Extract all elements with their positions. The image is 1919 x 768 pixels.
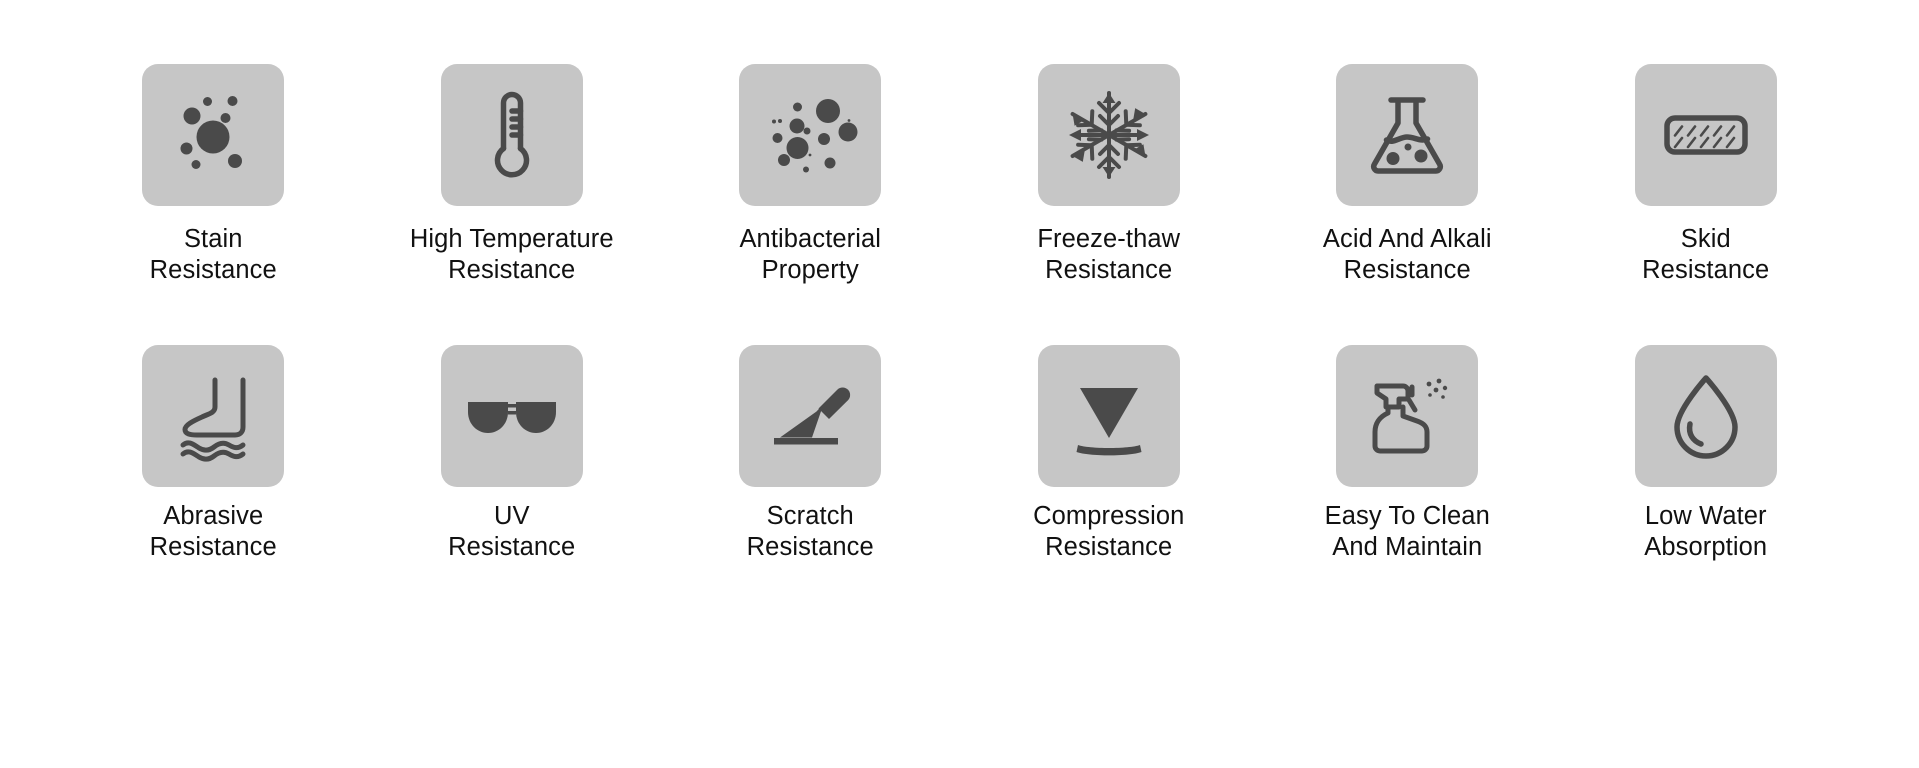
knife-icon xyxy=(760,366,860,466)
downward-triangle-press-icon xyxy=(1059,366,1159,466)
hatched-tile-icon xyxy=(1656,85,1756,185)
icon-tile-acid-and-alkali-resistance[interactable] xyxy=(1336,64,1478,206)
icon-tile-abrasive-resistance[interactable] xyxy=(142,345,284,487)
feature-label-abrasive-resistance: Abrasive Resistance xyxy=(150,501,277,562)
icon-tile-antibacterial-property[interactable] xyxy=(739,64,881,206)
foot-on-waves-icon xyxy=(163,366,263,466)
icon-tile-stain-resistance[interactable] xyxy=(142,64,284,206)
icon-tile-freeze-thaw-resistance[interactable] xyxy=(1038,64,1180,206)
snowflake-icon xyxy=(1059,85,1159,185)
icon-tile-skid-resistance[interactable] xyxy=(1635,64,1777,206)
feature-cell-easy-to-clean-and-maintain[interactable]: Easy To Clean And Maintain xyxy=(1258,345,1557,626)
icon-tile-scratch-resistance[interactable] xyxy=(739,345,881,487)
feature-label-scratch-resistance: Scratch Resistance xyxy=(747,501,874,562)
feature-cell-high-temperature-resistance[interactable]: High Temperature Resistance xyxy=(363,64,662,345)
feature-label-easy-to-clean-and-maintain: Easy To Clean And Maintain xyxy=(1325,501,1490,562)
feature-cell-abrasive-resistance[interactable]: Abrasive Resistance xyxy=(64,345,363,626)
feature-cell-stain-resistance[interactable]: Stain Resistance xyxy=(64,64,363,345)
feature-label-stain-resistance: Stain Resistance xyxy=(150,224,277,285)
feature-label-low-water-absorption: Low Water Absorption xyxy=(1644,501,1767,562)
spray-bottle-icon xyxy=(1357,366,1457,466)
flask-icon xyxy=(1357,85,1457,185)
sunglasses-icon xyxy=(462,366,562,466)
feature-cell-freeze-thaw-resistance[interactable]: Freeze-thaw Resistance xyxy=(960,64,1259,345)
feature-cell-uv-resistance[interactable]: UV Resistance xyxy=(363,345,662,626)
feature-label-skid-resistance: Skid Resistance xyxy=(1642,224,1769,285)
feature-cell-scratch-resistance[interactable]: Scratch Resistance xyxy=(661,345,960,626)
feature-label-freeze-thaw-resistance: Freeze-thaw Resistance xyxy=(1037,224,1180,285)
stain-dots-icon xyxy=(163,85,263,185)
feature-label-high-temperature-resistance: High Temperature Resistance xyxy=(410,224,614,285)
icon-tile-compression-resistance[interactable] xyxy=(1038,345,1180,487)
feature-cell-skid-resistance[interactable]: Skid Resistance xyxy=(1557,64,1856,345)
feature-cell-antibacterial-property[interactable]: Antibacterial Property xyxy=(661,64,960,345)
feature-cell-low-water-absorption[interactable]: Low Water Absorption xyxy=(1557,345,1856,626)
icon-tile-low-water-absorption[interactable] xyxy=(1635,345,1777,487)
feature-grid: Stain Resistance High Temperature Resist… xyxy=(0,0,1919,768)
feature-cell-compression-resistance[interactable]: Compression Resistance xyxy=(960,345,1259,626)
feature-label-compression-resistance: Compression Resistance xyxy=(1033,501,1184,562)
icon-tile-high-temperature-resistance[interactable] xyxy=(441,64,583,206)
bacteria-dots-icon xyxy=(760,85,860,185)
thermometer-icon xyxy=(462,85,562,185)
icon-tile-uv-resistance[interactable] xyxy=(441,345,583,487)
icon-tile-easy-to-clean-and-maintain[interactable] xyxy=(1336,345,1478,487)
water-drop-icon xyxy=(1656,366,1756,466)
feature-label-uv-resistance: UV Resistance xyxy=(448,501,575,562)
feature-label-acid-and-alkali-resistance: Acid And Alkali Resistance xyxy=(1323,224,1492,285)
feature-cell-acid-and-alkali-resistance[interactable]: Acid And Alkali Resistance xyxy=(1258,64,1557,345)
feature-label-antibacterial-property: Antibacterial Property xyxy=(739,224,881,285)
